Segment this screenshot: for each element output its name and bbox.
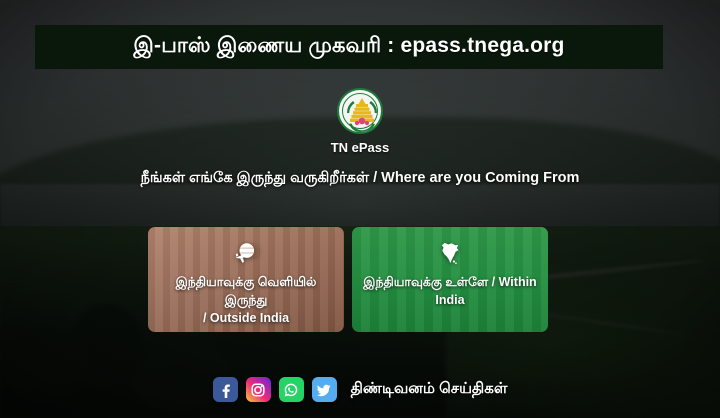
question-tamil: நீங்கள் எங்கே இருந்து வருகிறீர்கள்: [141, 170, 369, 186]
origin-options: இந்தியாவுக்கு வெளியில் இருந்து / Outside…: [148, 227, 548, 332]
option-card-within-india[interactable]: இந்தியாவுக்கு உள்ளே / Within India: [352, 227, 548, 332]
india-map-icon: [437, 240, 463, 266]
header-banner-text: இ-பாஸ் இணைய முகவரி : epass.tnega.org: [133, 34, 564, 60]
footer-brand-text: திண்டிவனம் செய்திகள்: [351, 380, 508, 399]
option-card-within-india-label: இந்தியாவுக்கு உள்ளே / Within India: [357, 273, 542, 309]
option-card-outside-india-label: இந்தியாவுக்கு வெளியில் இருந்து / Outside…: [148, 273, 344, 327]
foreground-content: இ-பாஸ் இணைய முகவரி : epass.tnega.org: [0, 0, 720, 418]
app-branding: TN ePass: [0, 88, 720, 155]
question-english: Where are you Coming From: [381, 170, 579, 186]
option-card-outside-india[interactable]: இந்தியாவுக்கு வெளியில் இருந்து / Outside…: [148, 227, 344, 332]
card-tamil-text: இந்தியாவுக்கு வெளியில் இருந்து: [176, 275, 317, 307]
facebook-icon[interactable]: [213, 377, 238, 402]
question-separator: /: [369, 170, 381, 186]
tamil-nadu-government-emblem-icon: [337, 88, 383, 134]
app-name-label: TN ePass: [331, 140, 390, 155]
question-prompt: நீங்கள் எங்கே இருந்து வருகிறீர்கள் / Whe…: [0, 170, 720, 188]
twitter-icon[interactable]: [312, 377, 337, 402]
globe-airplane-icon: [233, 240, 259, 266]
footer-bar: திண்டிவனம் செய்திகள்: [0, 377, 720, 402]
epass-promo-screen: இ-பாஸ் இணைய முகவரி : epass.tnega.org: [0, 0, 720, 418]
whatsapp-icon[interactable]: [279, 377, 304, 402]
instagram-icon[interactable]: [246, 377, 271, 402]
card-english-text: / Outside India: [203, 311, 289, 325]
header-banner: இ-பாஸ் இணைய முகவரி : epass.tnega.org: [35, 25, 663, 69]
card-tamil-text: இந்தியாவுக்கு உள்ளே / Within: [363, 275, 536, 289]
card-english-text: India: [435, 293, 464, 307]
